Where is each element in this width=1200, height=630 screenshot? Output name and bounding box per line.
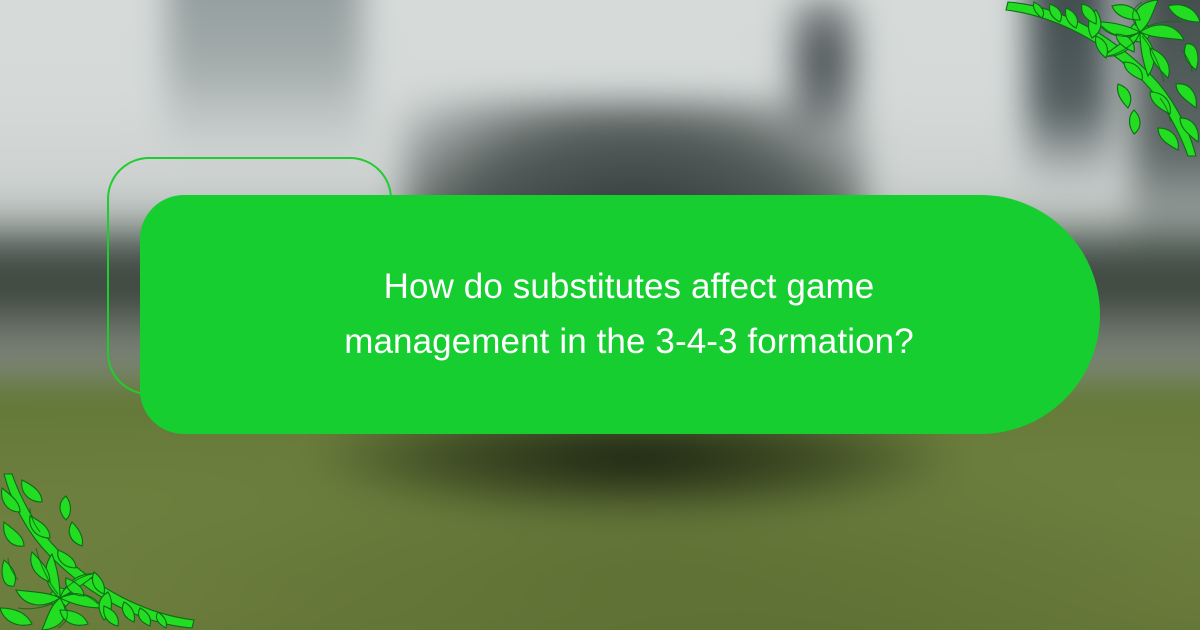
share-card-canvas: How do substitutes affect game managemen… — [0, 0, 1200, 630]
background-figure — [789, 0, 859, 124]
background-post-right-second — [1132, 0, 1200, 251]
question-text: How do substitutes affect game managemen… — [300, 260, 940, 369]
background-building — [166, 0, 362, 156]
background-post-right — [1027, 0, 1111, 188]
question-card: How do substitutes affect game managemen… — [140, 195, 1100, 434]
